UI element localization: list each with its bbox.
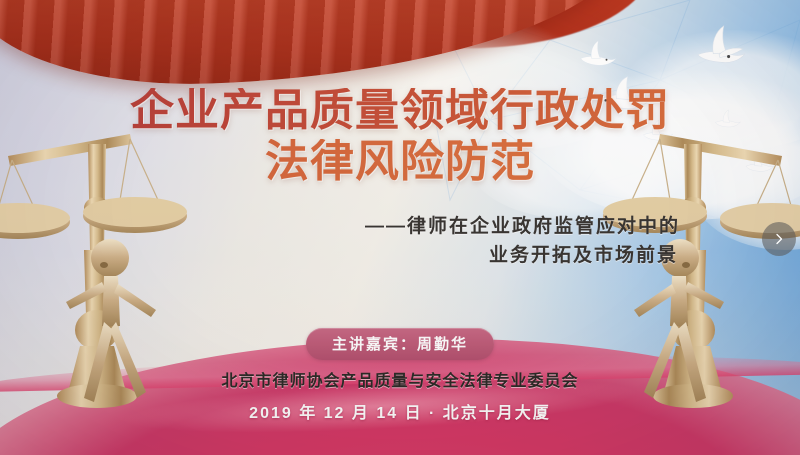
chevron-right-icon bbox=[772, 232, 786, 246]
banner-text-content: 企业产品质量领域行政处罚 法律风险防范 ——律师在企业政府监管应对中的 业务开拓… bbox=[0, 0, 800, 455]
date-venue-line: 2019 年 12 月 14 日 · 北京十月大厦 bbox=[0, 399, 800, 423]
banner-photo: 企业产品质量领域行政处罚 法律风险防范 ——律师在企业政府监管应对中的 业务开拓… bbox=[0, 0, 800, 455]
title-line-1: 企业产品质量领域行政处罚 bbox=[0, 88, 800, 135]
banner-subtitle: ——律师在企业政府监管应对中的 业务开拓及市场前景 bbox=[0, 212, 680, 271]
next-slide-button[interactable] bbox=[762, 222, 796, 256]
subtitle-line-1: ——律师在企业政府监管应对中的 bbox=[0, 212, 680, 241]
title-line-2: 法律风险防范 bbox=[0, 139, 800, 186]
organizer-line: 北京市律师协会产品质量与安全法律专业委员会 bbox=[0, 367, 800, 391]
banner-title: 企业产品质量领域行政处罚 法律风险防范 bbox=[0, 88, 800, 185]
subtitle-line-2: 业务开拓及市场前景 bbox=[0, 241, 680, 270]
speaker-badge: 主讲嘉宾：周勤华 bbox=[306, 328, 494, 360]
